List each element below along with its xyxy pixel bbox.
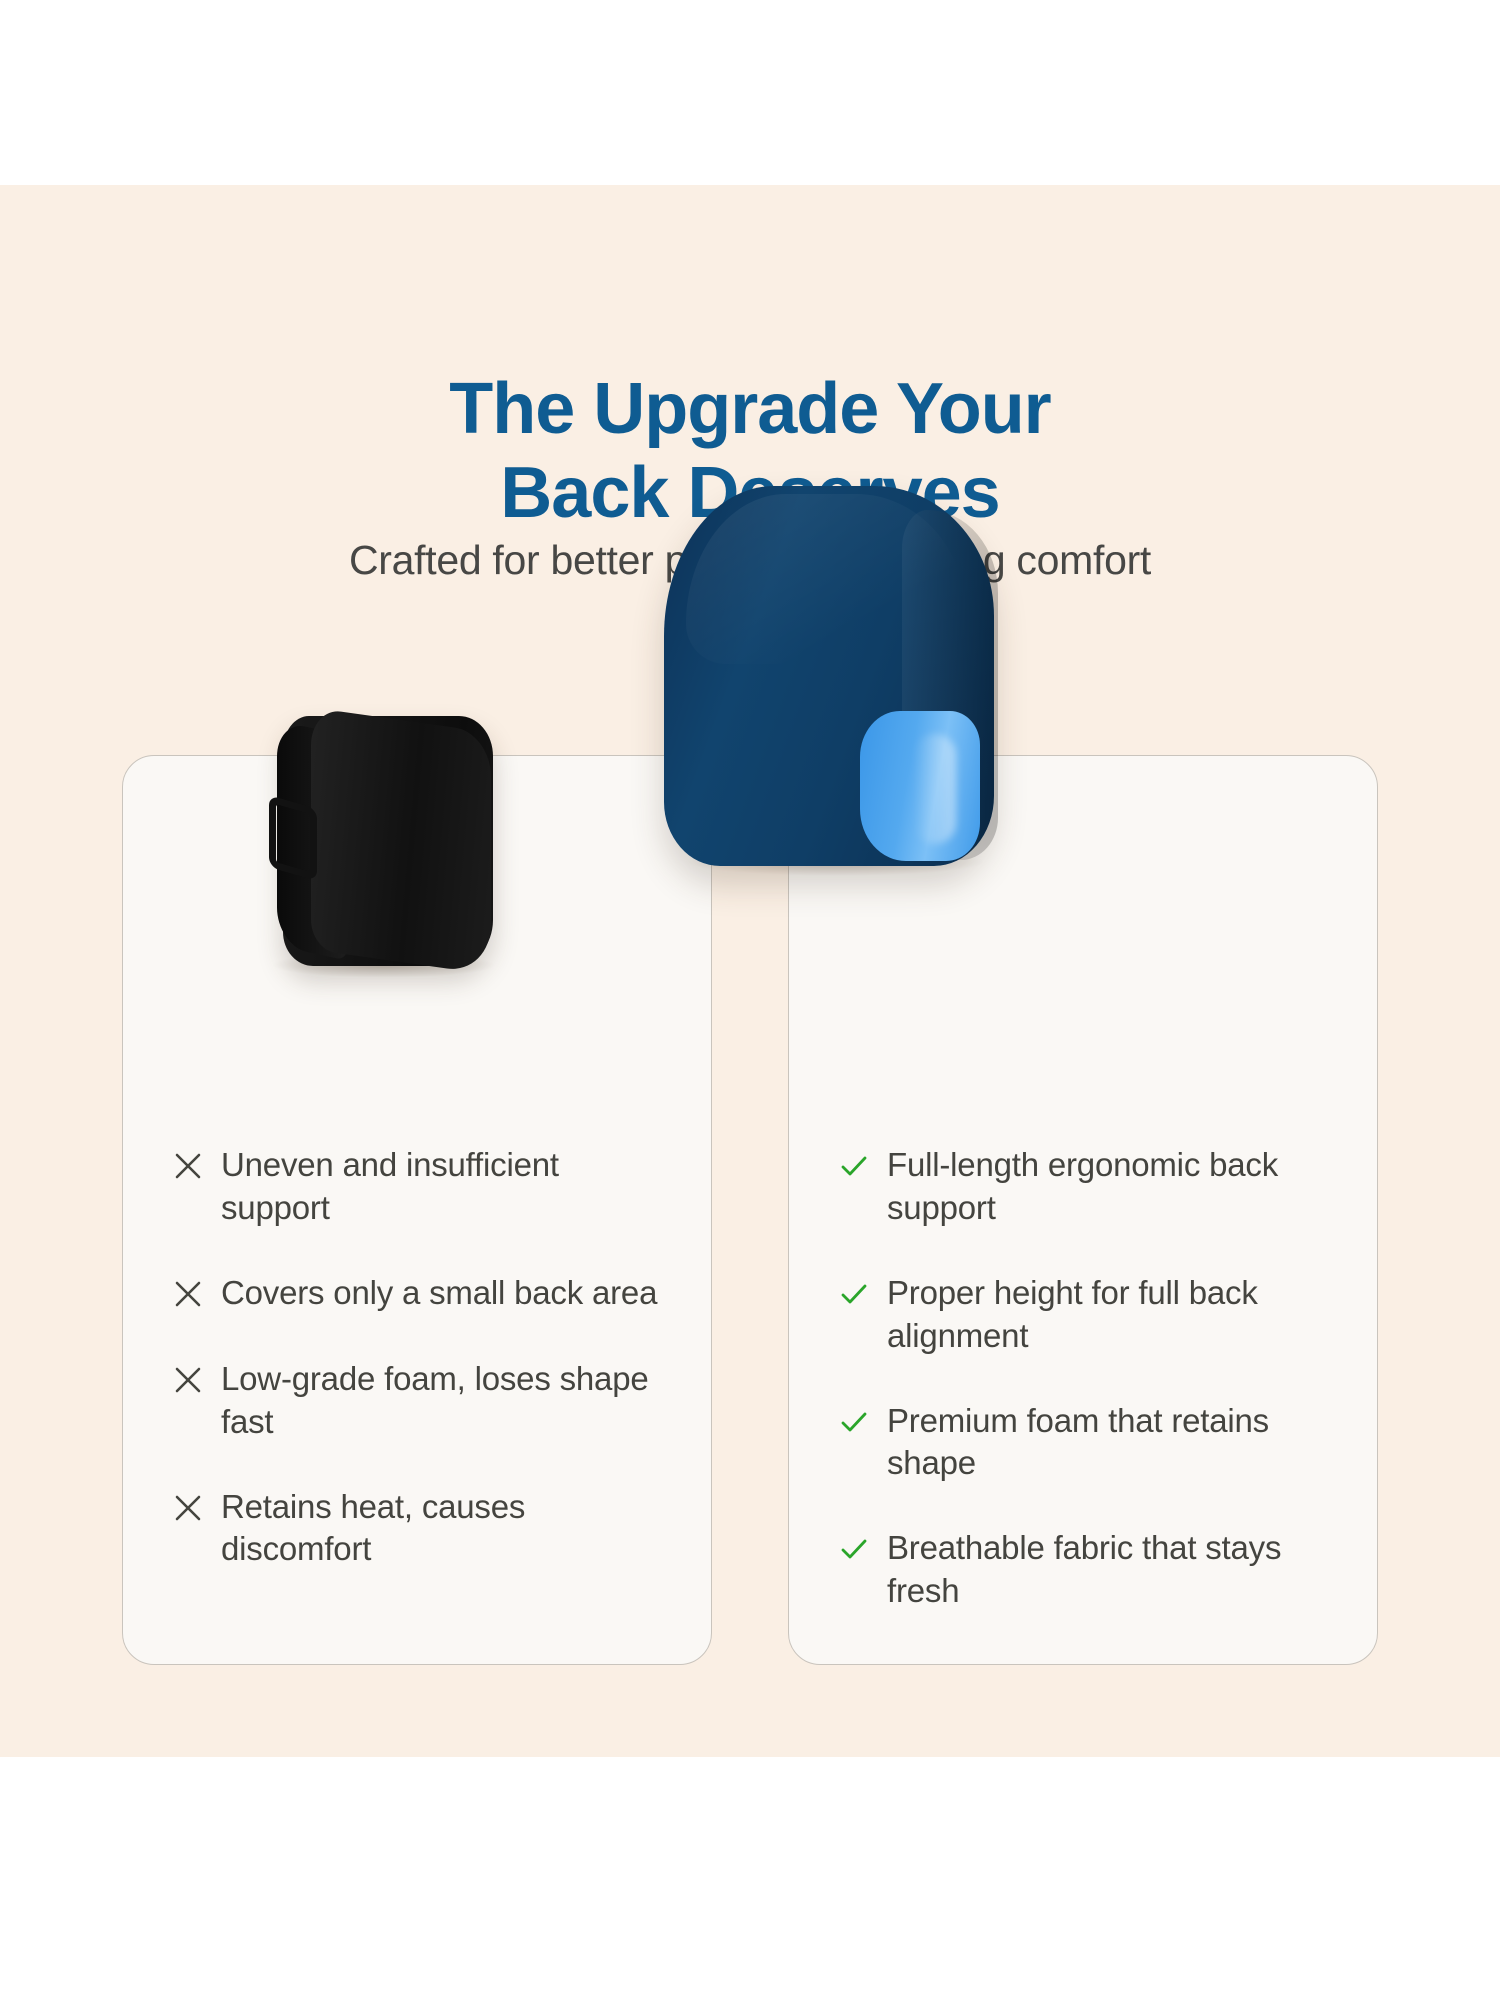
- cross-icon: [171, 1144, 205, 1188]
- comparison-card-ordinary: Uneven and insufficient support Covers o…: [122, 755, 712, 1665]
- list-item: Proper height for full back alignment: [837, 1272, 1337, 1358]
- list-item-label: Premium foam that retains shape: [887, 1400, 1327, 1486]
- feature-list-ordinary: Uneven and insufficient support Covers o…: [171, 1144, 671, 1571]
- cross-icon: [171, 1272, 205, 1316]
- check-icon: [837, 1272, 871, 1316]
- navy-ergonomic-back-support-photo: [664, 486, 1084, 886]
- list-item: Uneven and insufficient support: [171, 1144, 671, 1230]
- list-item: Breathable fabric that stays fresh: [837, 1527, 1337, 1613]
- list-item-label: Breathable fabric that stays fresh: [887, 1527, 1327, 1613]
- list-item: Premium foam that retains shape: [837, 1400, 1337, 1486]
- list-item: Retains heat, causes discomfort: [171, 1486, 671, 1572]
- list-item-label: Low-grade foam, loses shape fast: [221, 1358, 661, 1444]
- feature-list-premium: Full-length ergonomic back support Prope…: [837, 1144, 1337, 1613]
- cross-icon: [171, 1358, 205, 1402]
- lumbar-accent-highlight: [914, 734, 956, 844]
- list-item-label: Uneven and insufficient support: [221, 1144, 661, 1230]
- list-item: Low-grade foam, loses shape fast: [171, 1358, 671, 1444]
- check-icon: [837, 1527, 871, 1571]
- check-icon: [837, 1144, 871, 1188]
- comparison-card-premium: Full-length ergonomic back support Prope…: [788, 755, 1378, 1665]
- list-item: Full-length ergonomic back support: [837, 1144, 1337, 1230]
- infographic-page: The Upgrade Your Back Deserves Crafted f…: [0, 0, 1500, 2000]
- product-image-ordinary: [123, 756, 713, 1136]
- list-item-label: Covers only a small back area: [221, 1272, 657, 1315]
- product-image-premium: [789, 756, 1379, 1136]
- list-item-label: Full-length ergonomic back support: [887, 1144, 1327, 1230]
- list-item-label: Proper height for full back alignment: [887, 1272, 1327, 1358]
- black-lumbar-cushion-photo: [261, 716, 501, 981]
- cushion-strap: [269, 795, 317, 881]
- check-icon: [837, 1400, 871, 1444]
- cushion-face: [311, 707, 491, 974]
- cross-icon: [171, 1486, 205, 1530]
- list-item: Covers only a small back area: [171, 1272, 671, 1316]
- list-item-label: Retains heat, causes discomfort: [221, 1486, 661, 1572]
- page-title-line-1: The Upgrade Your: [449, 369, 1050, 449]
